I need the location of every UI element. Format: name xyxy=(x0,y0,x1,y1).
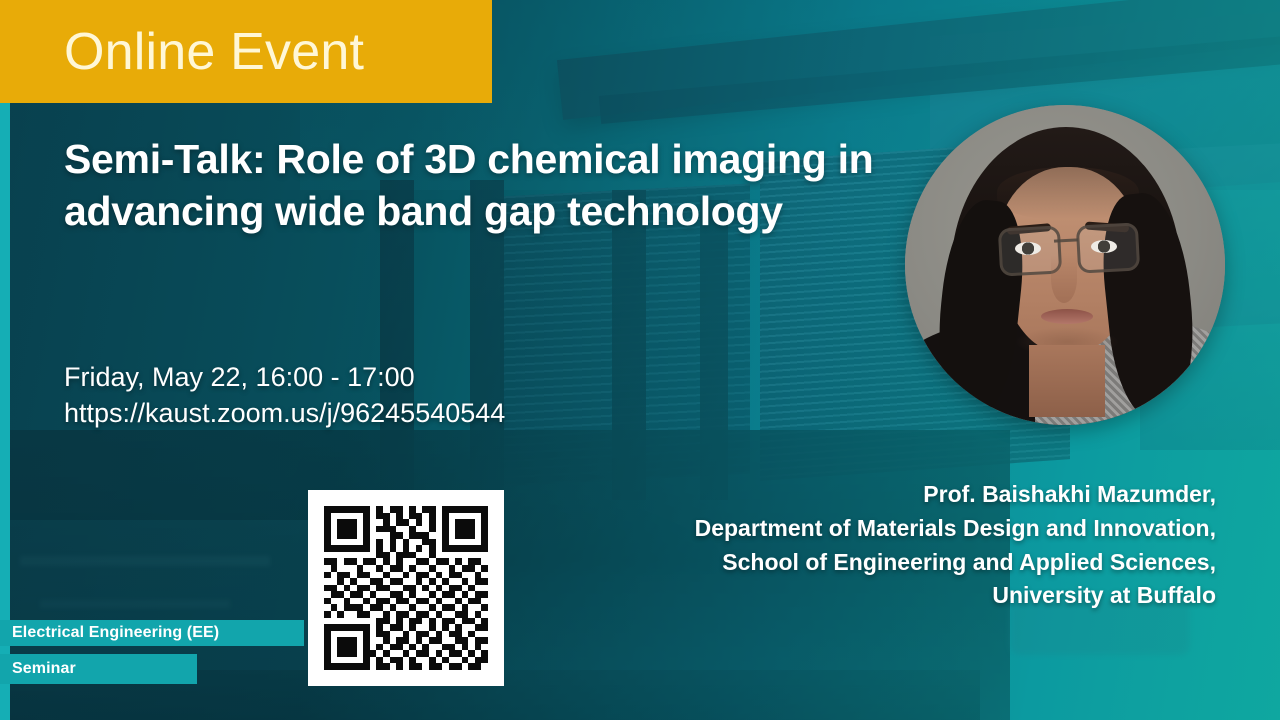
tag-label: Electrical Engineering (EE) xyxy=(12,624,219,642)
event-zoom-link[interactable]: https://kaust.zoom.us/j/96245540544 xyxy=(64,396,505,432)
page-title: Semi-Talk: Role of 3D chemical imaging i… xyxy=(64,133,874,238)
qr-code[interactable] xyxy=(308,490,504,686)
event-poster: Online Event Semi-Talk: Role of 3D chemi… xyxy=(0,0,1280,720)
speaker-portrait xyxy=(905,105,1225,425)
tag-label: Seminar xyxy=(12,660,76,678)
online-event-label: Online Event xyxy=(64,26,364,78)
event-datetime: Friday, May 22, 16:00 - 17:00 xyxy=(64,360,505,396)
speaker-institution: University at Buffalo xyxy=(516,579,1216,613)
speaker-name: Prof. Baishakhi Mazumder, xyxy=(516,478,1216,512)
speaker-school: School of Engineering and Applied Scienc… xyxy=(516,546,1216,580)
event-schedule: Friday, May 22, 16:00 - 17:00 https://ka… xyxy=(64,360,505,432)
speaker-department: Department of Materials Design and Innov… xyxy=(516,512,1216,546)
tag-seminar[interactable]: Seminar xyxy=(0,654,197,684)
tag-electrical-engineering[interactable]: Electrical Engineering (EE) xyxy=(0,620,304,646)
online-event-banner: Online Event xyxy=(0,0,492,103)
qr-code-matrix xyxy=(324,506,488,670)
speaker-credits: Prof. Baishakhi Mazumder, Department of … xyxy=(516,478,1216,613)
